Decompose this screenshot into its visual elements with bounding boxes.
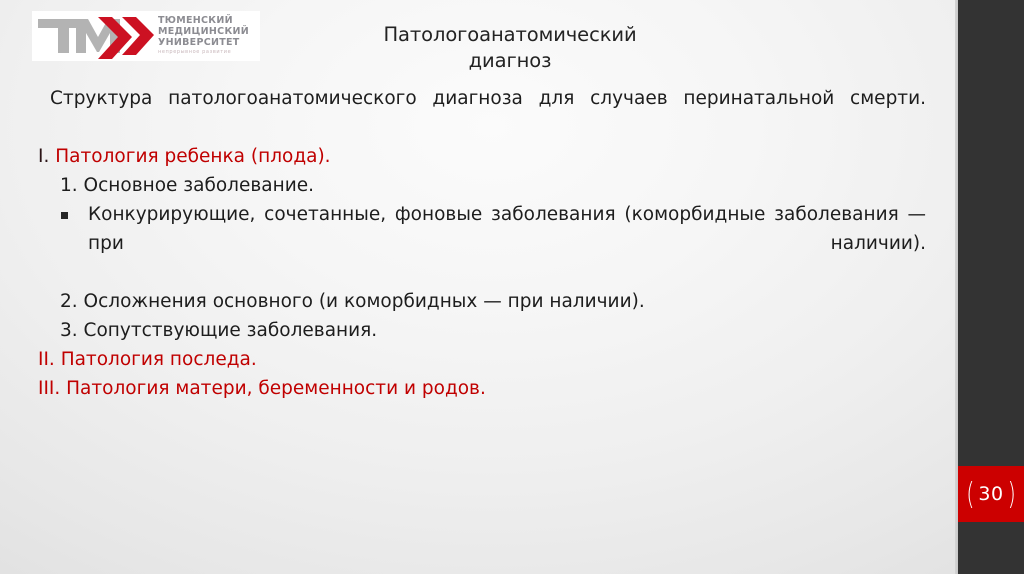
list-item-roman-2: II. Патология последа. [0,345,950,374]
bracket-right: ) [1008,479,1016,509]
list-item-label: Патология ребенка (плода). [55,146,330,167]
list-item-roman-1: I. Патология ребенка (плода). [0,142,950,171]
list-item-label: Сопутствующие заболевания. [84,320,378,341]
slide-body: Структура патологоанатомического диагноз… [0,84,950,403]
page-number: 30 [978,485,1003,504]
tmu-logo-wordmark: ТЮМЕНСКИЙ МЕДИЦИНСКИЙ УНИВЕРСИТЕТ непрер… [158,16,249,55]
page-number-badge: ( 30 ) [958,466,1024,522]
list-marker: 1. [60,175,78,196]
tmu-logo: ТЮМЕНСКИЙ МЕДИЦИНСКИЙ УНИВЕРСИТЕТ непрер… [32,11,260,61]
list-item-number-1: 1. Основное заболевание. [0,171,950,200]
presentation-slide: ТЮМЕНСКИЙ МЕДИЦИНСКИЙ УНИВЕРСИТЕТ непрер… [0,0,1024,574]
list-item-number-3: 3. Сопутствующие заболевания. [0,316,950,345]
list-marker: 2. [60,291,78,312]
list-item-label: Патология последа. [61,349,257,370]
list-item-roman-3: III. Патология матери, беременности и ро… [0,374,950,403]
slide-title: Патологоанатомический диагноз [300,22,720,74]
list-marker: II. [38,349,55,370]
logo-line-3: УНИВЕРСИТЕТ [158,38,249,49]
logo-line-2: МЕДИЦИНСКИЙ [158,27,249,38]
list-item-label: Осложнения основного (и коморбидных — пр… [84,291,645,312]
list-item-label: Конкурирующие, сочетанные, фоновые забол… [88,204,926,254]
list-marker: I. [38,146,49,167]
logo-tagline: непрерывное развитие [158,50,249,56]
list-item-bullet-1: Конкурирующие, сочетанные, фоновые забол… [0,200,950,287]
list-item-number-2: 2. Осложнения основного (и коморбидных —… [0,287,950,316]
slide-title-line-1: Патологоанатомический [300,22,720,48]
list-marker: III. [38,378,60,399]
list-item-label: Патология матери, беременности и родов. [66,378,486,399]
lead-paragraph: Структура патологоанатомического диагноз… [0,84,950,142]
list-marker: 3. [60,320,78,341]
square-bullet-icon [61,212,68,219]
slide-title-line-2: диагноз [300,48,720,74]
bracket-left: ( [966,479,974,509]
list-item-label: Основное заболевание. [84,175,314,196]
tmu-logo-mark-icon [36,13,154,59]
